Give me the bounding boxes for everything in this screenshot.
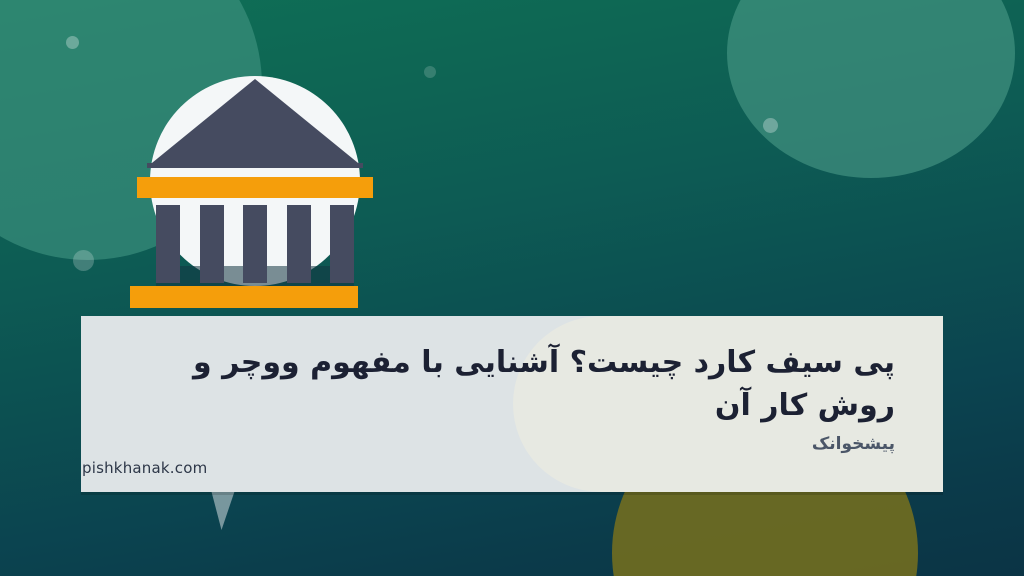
bank-icon-column [287, 205, 311, 283]
bank-building-icon [128, 76, 360, 308]
bank-icon-base [130, 286, 358, 308]
card-text-block: پی سیف کارد چیست؟ آشنایی با مفهوم ووچر و… [81, 316, 943, 492]
site-watermark: pishkhanak.com [82, 459, 207, 477]
decorative-dot [424, 66, 436, 78]
bank-icon-band [137, 177, 373, 198]
bank-icon-architrave [147, 163, 363, 168]
brand-subtitle: پیشخوانک [129, 434, 895, 454]
decorative-dot [66, 36, 79, 49]
background-blob-top-right [727, 0, 1015, 178]
page-title: پی سیف کارد چیست؟ آشنایی با مفهوم ووچر و… [129, 342, 895, 427]
bank-icon-column [156, 205, 180, 283]
bank-icon-roof [147, 79, 363, 167]
bank-icon-column [330, 205, 354, 283]
bank-icon-column [243, 205, 267, 283]
cover-slide: پی سیف کارد چیست؟ آشنایی با مفهوم ووچر و… [0, 0, 1024, 576]
decorative-dot [763, 118, 778, 133]
bank-icon-columns [156, 205, 354, 283]
title-card: پی سیف کارد چیست؟ آشنایی با مفهوم ووچر و… [81, 316, 943, 492]
decorative-dot [73, 250, 94, 271]
bank-icon-column [200, 205, 224, 283]
